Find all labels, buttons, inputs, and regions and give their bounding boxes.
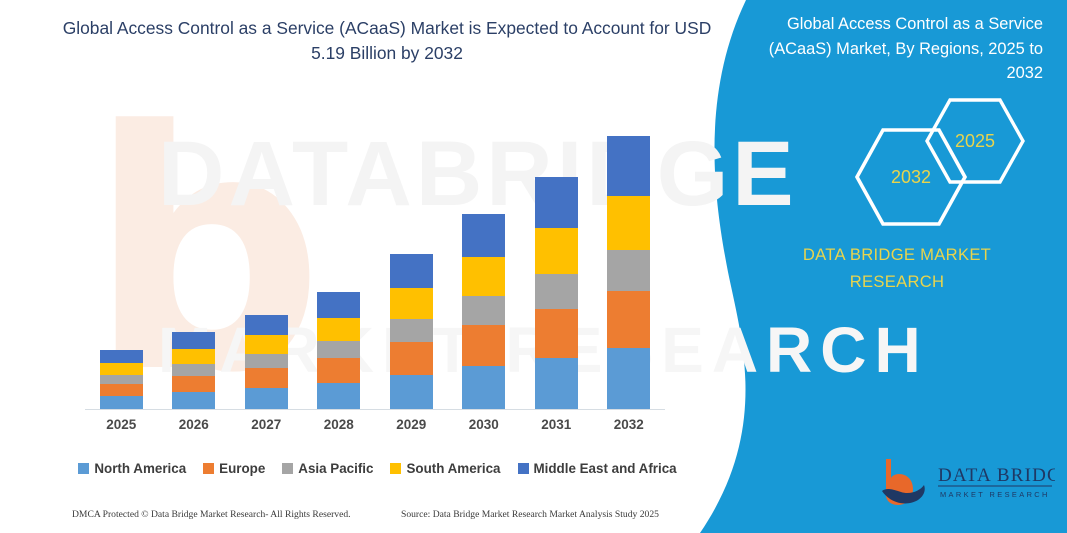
logo-b-mark-icon <box>882 459 925 505</box>
bar-group <box>158 332 231 409</box>
bar-segment <box>535 228 578 274</box>
bar-segment <box>390 319 433 342</box>
bar-segment <box>390 375 433 409</box>
legend-item[interactable]: Asia Pacific <box>282 461 373 476</box>
brand-name-line2: RESEARCH <box>767 269 1027 296</box>
stacked-bar <box>100 350 143 409</box>
hex-badge-end-year: 2032 <box>854 128 968 226</box>
bar-segment <box>462 325 505 366</box>
stacked-bar <box>172 332 215 409</box>
legend-item[interactable]: Europe <box>203 461 265 476</box>
bar-segment <box>172 364 215 376</box>
x-axis-tick-label: 2029 <box>375 417 448 432</box>
bar-group <box>520 177 593 409</box>
bar-segment <box>462 257 505 296</box>
panel-title: Global Access Control as a Service (ACaa… <box>763 12 1043 86</box>
bar-group <box>303 292 376 409</box>
bar-segment <box>317 341 360 358</box>
bar-segment <box>607 196 650 250</box>
legend-item[interactable]: North America <box>78 461 186 476</box>
bar-segment <box>390 342 433 375</box>
bar-segment <box>245 388 288 409</box>
hex-badge-end-year-label: 2032 <box>854 128 968 226</box>
bar-chart-plot-area <box>85 110 665 409</box>
bar-group <box>593 136 666 409</box>
bar-segment <box>535 177 578 228</box>
footer-source: Source: Data Bridge Market Research Mark… <box>401 509 659 520</box>
bar-segment <box>462 366 505 409</box>
footer: DMCA Protected © Data Bridge Market Rese… <box>0 505 720 529</box>
x-axis-tick-label: 2025 <box>85 417 158 432</box>
bar-group <box>85 350 158 409</box>
legend-swatch <box>282 463 293 474</box>
bar-segment <box>607 348 650 409</box>
bar-segment <box>100 363 143 375</box>
bar-segment <box>100 350 143 363</box>
bar-segment <box>100 375 143 384</box>
x-axis-tick-label: 2030 <box>448 417 521 432</box>
chart-infographic: b DATABRIDGE MARKET RESEARCH Global Acce… <box>0 0 1067 533</box>
x-axis-labels: 20252026202720282029203020312032 <box>85 417 665 441</box>
page-title: Global Access Control as a Service (ACaa… <box>62 16 712 66</box>
bar-group <box>448 214 521 409</box>
bar-segment <box>317 358 360 383</box>
legend-label: North America <box>94 461 186 476</box>
logo-primary-text: DATA BRIDGE <box>938 465 1055 486</box>
x-axis-line <box>85 409 665 410</box>
legend-swatch <box>203 463 214 474</box>
bar-segment <box>245 368 288 388</box>
chart-pane: Global Access Control as a Service (ACaa… <box>0 0 720 533</box>
bar-segment <box>535 358 578 409</box>
bar-group <box>230 315 303 409</box>
footer-copyright: DMCA Protected © Data Bridge Market Rese… <box>72 509 351 520</box>
bar-segment <box>317 383 360 409</box>
legend-item[interactable]: Middle East and Africa <box>518 461 677 476</box>
bar-segment <box>535 274 578 309</box>
info-panel: Global Access Control as a Service (ACaa… <box>720 0 1067 533</box>
bar-segment <box>390 288 433 319</box>
bar-segment <box>172 332 215 349</box>
brand-name: DATA BRIDGE MARKET RESEARCH <box>767 242 1027 296</box>
chart-legend: North AmericaEuropeAsia PacificSouth Ame… <box>85 457 670 479</box>
x-axis-tick-label: 2027 <box>230 417 303 432</box>
year-range-badges: 2025 2032 <box>820 98 1060 218</box>
bar-segment <box>462 296 505 325</box>
logo-secondary-text: MARKET RESEARCH <box>940 490 1050 499</box>
legend-swatch <box>518 463 529 474</box>
legend-swatch <box>390 463 401 474</box>
stacked-bar <box>535 177 578 409</box>
x-axis-tick-label: 2028 <box>303 417 376 432</box>
bar-segment <box>317 292 360 318</box>
bar-segment <box>462 214 505 257</box>
bar-segment <box>172 392 215 409</box>
legend-label: Europe <box>219 461 265 476</box>
stacked-bar <box>607 136 650 409</box>
legend-swatch <box>78 463 89 474</box>
bar-group <box>375 254 448 409</box>
legend-label: South America <box>406 461 500 476</box>
bar-segment <box>245 315 288 335</box>
bar-segment <box>172 349 215 364</box>
company-logo: DATA BRIDGE MARKET RESEARCH <box>880 455 1055 507</box>
bar-segment <box>607 250 650 291</box>
x-axis-tick-label: 2031 <box>520 417 593 432</box>
bar-segment <box>100 396 143 409</box>
legend-label: Middle East and Africa <box>534 461 677 476</box>
bar-segment <box>317 318 360 341</box>
brand-name-line1: DATA BRIDGE MARKET <box>767 242 1027 269</box>
bar-segment <box>535 309 578 358</box>
bar-segment <box>100 384 143 396</box>
bar-segment <box>245 354 288 368</box>
bar-segment <box>172 376 215 392</box>
x-axis-tick-label: 2032 <box>593 417 666 432</box>
bar-segment <box>390 254 433 288</box>
legend-item[interactable]: South America <box>390 461 500 476</box>
bar-segment <box>245 335 288 354</box>
stacked-bar <box>390 254 433 409</box>
stacked-bar <box>317 292 360 409</box>
bar-segment <box>607 136 650 196</box>
stacked-bar <box>462 214 505 409</box>
bar-segment <box>607 291 650 348</box>
stacked-bar <box>245 315 288 409</box>
x-axis-tick-label: 2026 <box>158 417 231 432</box>
legend-label: Asia Pacific <box>298 461 373 476</box>
